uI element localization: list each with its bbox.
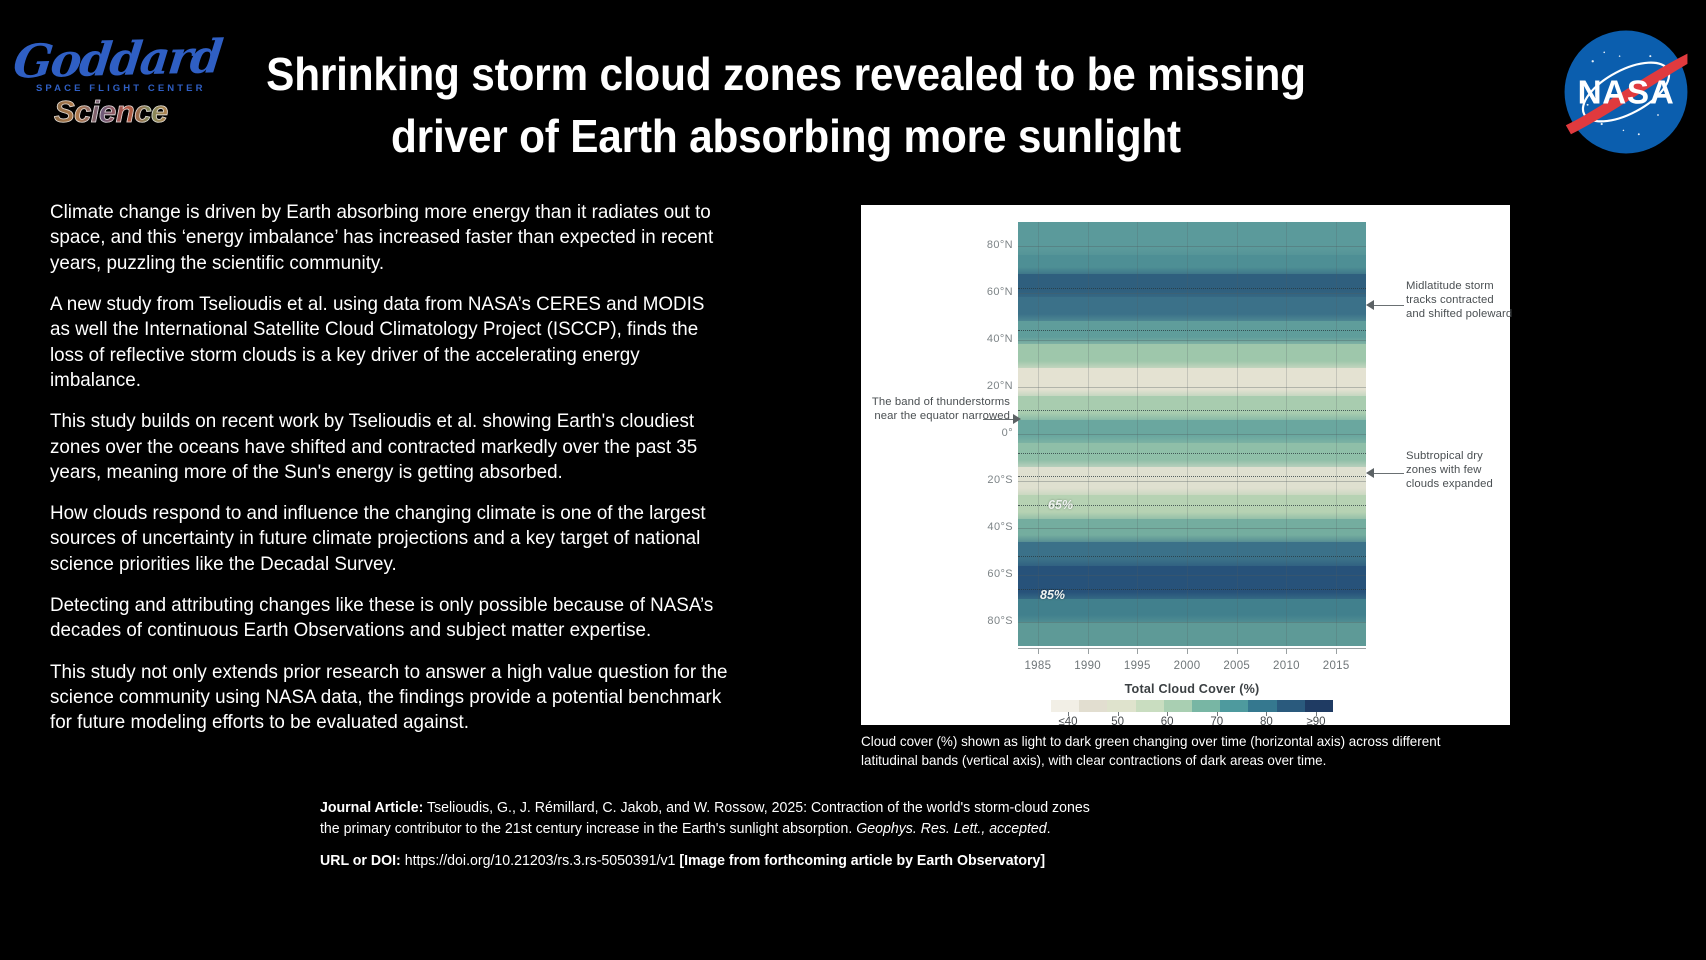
x-axis-line: [1018, 648, 1366, 649]
citation-footer: Journal Article: Tselioudis, G., J. Rémi…: [320, 798, 1523, 872]
contour-label-85: 85%: [1040, 588, 1065, 602]
nasa-logo: NASA: [1562, 28, 1690, 156]
leader-line-midlatitude: [1374, 305, 1404, 306]
contour-label-65: 65%: [1048, 498, 1073, 512]
goddard-wordmark: Goddard: [11, 33, 217, 84]
journal-italic: Geophys. Res. Lett., accepted: [856, 821, 1046, 837]
colorbar-title: Total Cloud Cover (%): [1018, 682, 1366, 696]
arrow-midlatitude-icon: [1366, 300, 1374, 310]
x-axis-tick-mark: [1237, 649, 1238, 654]
colorbar-swatch: [1192, 700, 1220, 712]
colorbar-tick-label: ≥90: [1306, 716, 1325, 728]
x-axis-tick-mark: [1137, 649, 1138, 654]
gridline-vertical: [1286, 222, 1287, 646]
colorbar-swatch: [1220, 700, 1248, 712]
y-axis-label: 20°N: [957, 380, 1013, 392]
body-paragraph: How clouds respond to and influence the …: [50, 501, 729, 577]
colorbar-swatch: [1277, 700, 1305, 712]
gridline-horizontal: [1018, 387, 1366, 388]
body-paragraph: Detecting and attributing changes like t…: [50, 593, 729, 644]
gridline-vertical: [1336, 222, 1337, 646]
gridline-horizontal: [1018, 481, 1366, 482]
x-axis-label: 2000: [1174, 660, 1201, 672]
url-text[interactable]: https://doi.org/10.21203/rs.3.rs-5050391…: [405, 853, 676, 869]
gridline-horizontal: [1018, 575, 1366, 576]
x-axis-label: 2005: [1223, 660, 1250, 672]
colorbar-tick-label: 80: [1260, 716, 1273, 728]
gridline-vertical: [1187, 222, 1188, 646]
y-axis-label: 40°N: [957, 333, 1013, 345]
journal-row: Journal Article: Tselioudis, G., J. Rémi…: [320, 798, 1523, 839]
y-axis-label: 80°N: [957, 239, 1013, 251]
gridline-horizontal: [1018, 622, 1366, 623]
x-axis-label: 1985: [1024, 660, 1051, 672]
contour-line: [1018, 288, 1366, 289]
colorbar-swatch: [1248, 700, 1276, 712]
url-label: URL or DOI:: [320, 853, 401, 869]
gridline-horizontal: [1018, 528, 1366, 529]
cloud-cover-figure: 80°N60°N40°N20°N0°20°S40°S60°S80°S 65% 8…: [861, 205, 1510, 725]
contour-line: [1018, 589, 1366, 590]
x-axis-tick-mark: [1038, 649, 1039, 654]
y-axis-label: 0°: [957, 427, 1013, 439]
body-paragraph: This study builds on recent work by Tsel…: [50, 409, 729, 485]
gridline-vertical: [1088, 222, 1089, 646]
colorbar-swatch: [1164, 700, 1192, 712]
x-axis-label: 2015: [1323, 660, 1350, 672]
journal-text-1: Tselioudis, G., J. Rémillard, C. Jakob, …: [427, 800, 1090, 816]
colorbar-ticks: ≤4050607080≥90: [1051, 712, 1333, 730]
goddard-science-wordmark: Science: [54, 96, 214, 127]
colorbar-swatch: [1305, 700, 1333, 712]
annotation-midlatitude-storm: Midlatitude storm tracks contracted and …: [1406, 279, 1514, 322]
slide-title: Shrinking storm cloud zones revealed to …: [243, 44, 1329, 167]
gridline-vertical: [1137, 222, 1138, 646]
goddard-logo: Goddard SPACE FLIGHT CENTER Science: [14, 36, 214, 136]
leader-line-subtropical: [1374, 473, 1404, 474]
body-paragraph: Climate change is driven by Earth absorb…: [50, 200, 729, 276]
x-axis-tick-mark: [1286, 649, 1287, 654]
x-axis-tick-mark: [1336, 649, 1337, 654]
annotation-subtropical-dry: Subtropical dry zones with few clouds ex…: [1406, 449, 1514, 492]
colorbar-swatch: [1107, 700, 1135, 712]
journal-row-2: the primary contributor to the 21st cent…: [320, 819, 1523, 840]
journal-text-2: the primary contributor to the 21st cent…: [320, 821, 852, 837]
x-axis-label: 1995: [1124, 660, 1151, 672]
contour-line: [1018, 410, 1366, 411]
body-paragraph: This study not only extends prior resear…: [50, 660, 729, 736]
contour-line: [1018, 556, 1366, 557]
colorbar-gradient: [1051, 700, 1333, 712]
leader-line-equator: [983, 419, 1017, 420]
gridline-horizontal: [1018, 340, 1366, 341]
gridline-horizontal: [1018, 293, 1366, 294]
x-axis-ticks: 1985199019952000200520102015: [1018, 654, 1366, 680]
colorbar-swatch: [1079, 700, 1107, 712]
body-text-column: Climate change is driven by Earth absorb…: [50, 200, 750, 752]
x-axis-tick-mark: [1088, 649, 1089, 654]
colorbar-swatch: [1136, 700, 1164, 712]
colorbar-swatch: [1051, 700, 1079, 712]
x-axis-label: 2010: [1273, 660, 1300, 672]
gridline-vertical: [1237, 222, 1238, 646]
arrow-subtropical-icon: [1366, 468, 1374, 478]
gridline-horizontal: [1018, 434, 1366, 435]
latitude-band: [1018, 622, 1366, 646]
y-axis-ticks: 80°N60°N40°N20°N0°20°S40°S60°S80°S: [957, 222, 1013, 646]
url-row: URL or DOI: https://doi.org/10.21203/rs.…: [320, 851, 1523, 872]
svg-text:NASA: NASA: [1578, 75, 1675, 112]
nasa-meatball-icon: NASA: [1562, 28, 1690, 156]
slide-root: Goddard SPACE FLIGHT CENTER Science NASA…: [0, 0, 1706, 960]
colorbar-tick-label: 70: [1210, 716, 1223, 728]
contour-line: [1018, 453, 1366, 454]
heatmap-plot-area: 65% 85%: [1018, 222, 1366, 646]
colorbar-tick-label: ≤40: [1058, 716, 1077, 728]
y-axis-label: 80°S: [957, 615, 1013, 627]
colorbar-tick-label: 60: [1161, 716, 1174, 728]
y-axis-label: 20°S: [957, 474, 1013, 486]
y-axis-label: 60°S: [957, 568, 1013, 580]
journal-end: .: [1047, 821, 1051, 837]
journal-label: Journal Article:: [320, 800, 423, 816]
y-axis-label: 60°N: [957, 286, 1013, 298]
colorbar-tick-label: 50: [1111, 716, 1124, 728]
arrow-equator-icon: [1013, 414, 1021, 424]
contour-line: [1018, 330, 1366, 331]
gridline-horizontal: [1018, 246, 1366, 247]
gridline-vertical: [1038, 222, 1039, 646]
x-axis-label: 1990: [1074, 660, 1101, 672]
y-axis-label: 40°S: [957, 521, 1013, 533]
figure-caption: Cloud cover (%) shown as light to dark g…: [861, 732, 1483, 771]
contour-line: [1018, 476, 1366, 477]
url-bracket-note: [Image from forthcoming article by Earth…: [679, 853, 1045, 869]
x-axis-tick-mark: [1187, 649, 1188, 654]
body-paragraph: A new study from Tselioudis et al. using…: [50, 292, 729, 393]
